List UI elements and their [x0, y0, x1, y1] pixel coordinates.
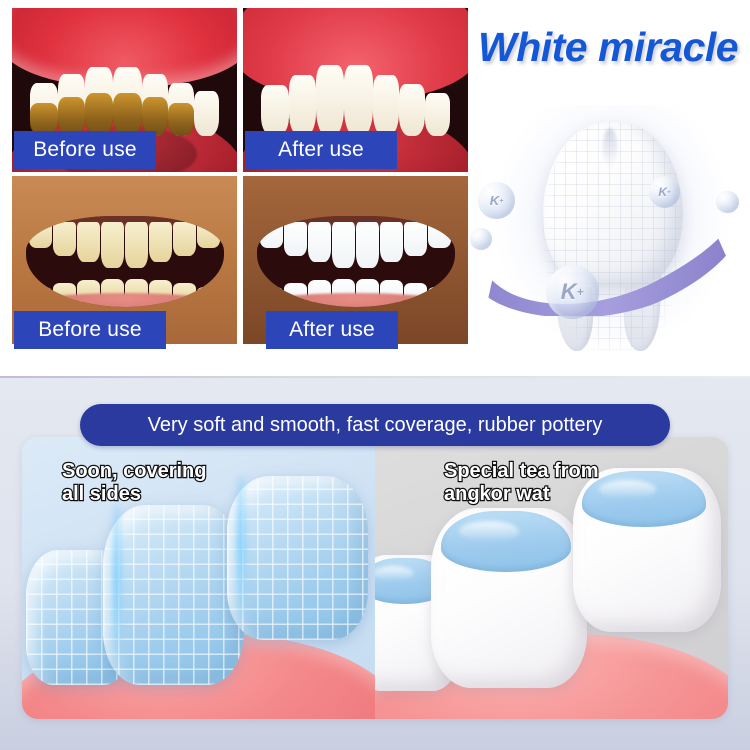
- page-title: White miracle: [478, 24, 738, 71]
- coated-molar: [227, 476, 368, 640]
- tooth: [53, 222, 76, 256]
- tooth: [101, 222, 124, 268]
- tooth: [194, 91, 219, 136]
- tooth: [332, 222, 355, 268]
- edge-glow: [234, 476, 248, 640]
- mesh-overlay: [103, 505, 244, 685]
- stained-tooth-arc: [30, 64, 219, 136]
- tooth: [77, 222, 100, 263]
- label-after-use-2: After use: [266, 311, 398, 349]
- tooth: [373, 75, 399, 136]
- caption-full-coverage: Soon, covering all sides: [62, 460, 206, 506]
- tooth: [425, 93, 450, 136]
- before-after-section: Before use After use Before use After us…: [0, 0, 750, 377]
- tooth: [316, 65, 344, 136]
- ion-bubble-left: K+: [478, 182, 514, 219]
- tooth: [284, 222, 307, 256]
- ion-bubble-upper-right: K+: [649, 176, 680, 207]
- feature-banner: Very soft and smooth, fast coverage, rub…: [80, 404, 670, 446]
- ion-charge: +: [667, 189, 671, 196]
- tooth: [399, 84, 425, 136]
- caption-partial-coverage: Special tea from angkor wat: [444, 460, 599, 506]
- tartar-stain: [168, 103, 194, 136]
- edge-glow: [110, 505, 124, 685]
- ion-charge: +: [499, 197, 503, 205]
- gel-cap: [582, 471, 707, 527]
- clean-tooth-arc: [261, 64, 450, 136]
- ion-bubble-small-right: [716, 191, 738, 214]
- purple-ribbon-icon: [484, 231, 736, 317]
- open-mouth: [257, 216, 455, 307]
- tooth: [261, 85, 289, 136]
- ion-symbol: K: [561, 279, 577, 305]
- tooth: [125, 222, 148, 268]
- upper-teeth-row: [29, 222, 219, 269]
- coated-molar: [103, 505, 244, 685]
- tartar-stain: [85, 93, 113, 136]
- tooth: [289, 75, 315, 136]
- tartar-stain: [113, 93, 141, 136]
- tooth: [404, 222, 427, 256]
- ion-symbol: K: [658, 185, 667, 199]
- tooth: [113, 67, 141, 136]
- tooth: [308, 222, 331, 263]
- whitening-tooth-illustration: K+ K+ K+: [470, 88, 750, 373]
- tooth: [149, 222, 172, 263]
- label-before-use-2: Before use: [14, 311, 166, 349]
- tooth: [29, 222, 52, 248]
- gel-cap: [441, 511, 571, 572]
- partially-coated-molar: [431, 508, 586, 688]
- tooth: [173, 222, 196, 256]
- tooth: [30, 83, 58, 136]
- tooth: [85, 67, 113, 136]
- tooth: [142, 74, 168, 136]
- tooth: [197, 222, 220, 248]
- tooth: [380, 222, 403, 263]
- ion-symbol: K: [490, 193, 499, 208]
- ion-bubble-large: K+: [546, 265, 599, 319]
- upper-teeth-row: [260, 222, 450, 269]
- ion-charge: +: [577, 285, 584, 299]
- open-mouth: [26, 216, 224, 307]
- mesh-overlay: [227, 476, 368, 640]
- tooth: [344, 65, 372, 136]
- tooth: [260, 222, 283, 248]
- tooth: [58, 74, 84, 136]
- label-before-use-1: Before use: [14, 131, 156, 169]
- tooth: [168, 83, 194, 136]
- label-after-use-1: After use: [245, 131, 397, 169]
- tooth: [428, 222, 451, 248]
- tooth: [356, 222, 379, 268]
